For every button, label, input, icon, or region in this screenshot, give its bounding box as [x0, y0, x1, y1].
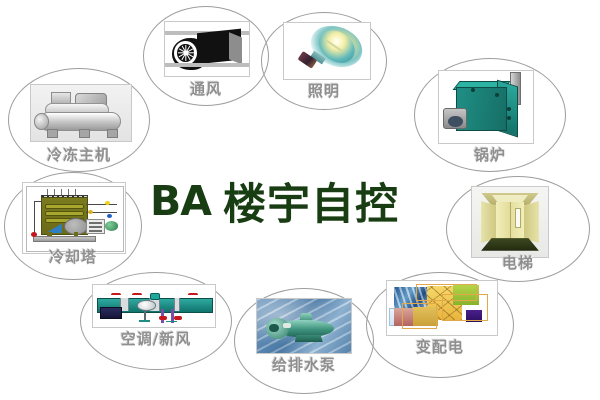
node-label-boiler: 锅炉 [414, 144, 566, 165]
node-coolingtower[interactable]: 冷却塔 [4, 172, 142, 280]
node-label-hvac: 空调/新风 [80, 328, 232, 349]
air-handling-unit-icon [92, 284, 216, 328]
cooling-tower-icon [22, 182, 126, 254]
node-chiller[interactable]: 冷冻主机 [8, 68, 150, 172]
node-lighting[interactable]: 照明 [261, 12, 387, 110]
power-substation-icon [386, 280, 498, 336]
node-hvac[interactable]: 空调/新风 [80, 272, 232, 370]
node-pump[interactable]: 给排水泵 [234, 288, 374, 394]
title-chinese: 楼宇自控 [223, 170, 399, 232]
water-pump-icon [256, 298, 352, 354]
chiller-unit-icon [30, 84, 132, 142]
page-title: BA 楼宇自控 [150, 172, 470, 230]
node-label-pump: 给排水泵 [234, 354, 374, 375]
node-label-power: 变配电 [366, 336, 514, 357]
boiler-icon [438, 70, 534, 144]
ventilation-fan-icon [164, 21, 250, 77]
diagram-canvas: 冷冻主机 通风 [0, 0, 600, 400]
title-latin: BA [150, 177, 211, 225]
node-power[interactable]: 变配电 [366, 272, 514, 378]
node-label-coolingtower: 冷却塔 [4, 246, 142, 267]
light-bulb-icon [283, 22, 371, 80]
node-label-elevator: 电梯 [446, 252, 590, 273]
node-label-chiller: 冷冻主机 [8, 144, 150, 165]
node-label-ventilation: 通风 [143, 78, 269, 99]
node-label-lighting: 照明 [261, 80, 387, 101]
node-boiler[interactable]: 锅炉 [414, 58, 566, 172]
elevator-cab-icon [471, 186, 549, 258]
node-ventilation[interactable]: 通风 [143, 6, 269, 106]
